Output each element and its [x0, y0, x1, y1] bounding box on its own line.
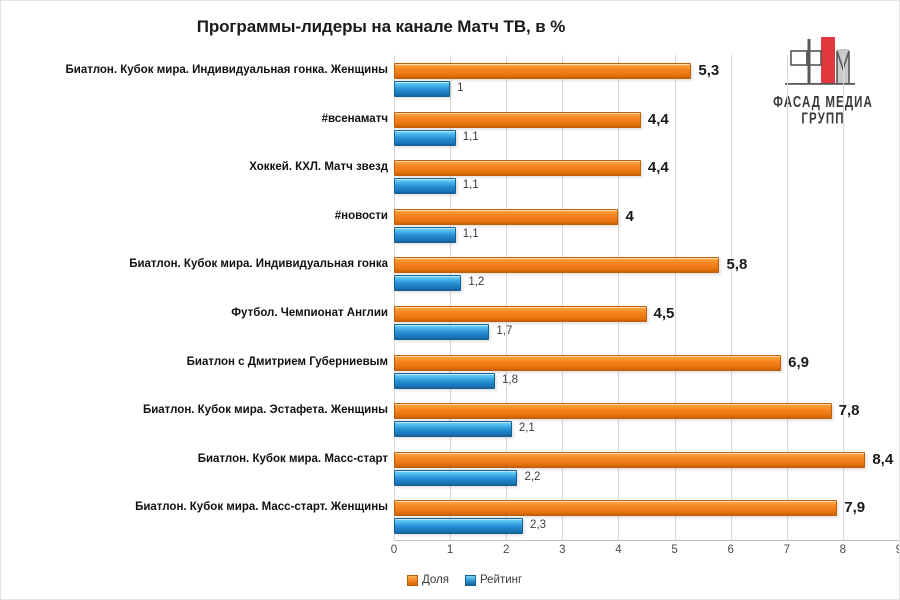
bar-dolya[interactable]: [394, 63, 691, 79]
x-axis-tick-label: 5: [671, 544, 677, 556]
bar-value-label-reyting: 1,1: [463, 228, 479, 240]
bar-dolya[interactable]: [394, 112, 641, 128]
chart-row: 5,31: [394, 55, 899, 104]
legend-swatch-icon: [407, 575, 418, 586]
chart-row: 41,1: [394, 201, 899, 250]
bar-dolya[interactable]: [394, 500, 837, 516]
chart-row: 8,42,2: [394, 444, 899, 493]
bar-dolya[interactable]: [394, 403, 832, 419]
chart-row: 4,41,1: [394, 104, 899, 153]
x-axis-tick-label: 6: [727, 544, 733, 556]
chart-row: 7,92,3: [394, 492, 899, 541]
category-label: Биатлон. Кубок мира. Эстафета. Женщины: [9, 404, 394, 416]
bar-dolya[interactable]: [394, 306, 647, 322]
legend-label: Доля: [422, 574, 449, 586]
bar-value-label-dolya: 5,8: [726, 256, 747, 273]
x-axis-tick-label: 7: [784, 544, 790, 556]
x-axis-tick-label: 9: [896, 544, 900, 556]
chart-row: 7,82,1: [394, 395, 899, 444]
category-label: Хоккей. КХЛ. Матч звезд: [9, 161, 394, 173]
x-axis-ticks: 0123456789: [394, 544, 899, 562]
page-title: Программы-лидеры на канале Матч ТВ, в %: [1, 17, 761, 37]
bar-dolya[interactable]: [394, 209, 618, 225]
bar-dolya[interactable]: [394, 160, 641, 176]
x-axis-tick-label: 1: [447, 544, 453, 556]
bar-value-label-dolya: 4: [625, 208, 633, 225]
bar-value-label-reyting: 2,1: [519, 422, 535, 434]
bar-value-label-reyting: 1,2: [468, 276, 484, 288]
bar-reyting[interactable]: [394, 178, 456, 194]
category-label: Биатлон. Кубок мира. Индивидуальная гонк…: [9, 64, 394, 76]
bar-value-label-reyting: 1,7: [496, 325, 512, 337]
bar-value-label-dolya: 6,9: [788, 354, 809, 371]
chart-row: 4,41,1: [394, 152, 899, 201]
bar-value-label-reyting: 2,3: [530, 519, 546, 531]
bar-value-label-reyting: 1: [457, 82, 463, 94]
bar-dolya[interactable]: [394, 452, 865, 468]
bar-value-label-reyting: 1,8: [502, 374, 518, 386]
plot-area: 5,314,41,14,41,141,15,81,24,51,76,91,87,…: [394, 55, 899, 541]
bar-value-label-dolya: 5,3: [698, 62, 719, 79]
bar-reyting[interactable]: [394, 275, 461, 291]
bar-reyting[interactable]: [394, 518, 523, 534]
category-label: Биатлон. Кубок мира. Индивидуальная гонк…: [9, 258, 394, 270]
bar-reyting[interactable]: [394, 421, 512, 437]
category-label: Биатлон. Кубок мира. Масс-старт. Женщины: [9, 501, 394, 513]
x-axis-tick-label: 8: [840, 544, 846, 556]
legend: ДоляРейтинг: [394, 569, 899, 591]
legend-item[interactable]: Рейтинг: [465, 569, 522, 591]
chart-row: 4,51,7: [394, 298, 899, 347]
bar-value-label-dolya: 4,4: [648, 159, 669, 176]
category-label: Биатлон с Дмитрием Губерниевым: [9, 356, 394, 368]
x-axis-tick-label: 2: [503, 544, 509, 556]
bar-dolya[interactable]: [394, 257, 719, 273]
category-label: #новости: [9, 210, 394, 222]
bar-value-label-reyting: 2,2: [524, 471, 540, 483]
bar-value-label-reyting: 1,1: [463, 179, 479, 191]
bar-value-label-dolya: 7,8: [839, 402, 860, 419]
bar-reyting[interactable]: [394, 470, 517, 486]
bar-reyting[interactable]: [394, 227, 456, 243]
bar-value-label-reyting: 1,1: [463, 131, 479, 143]
legend-swatch-icon: [465, 575, 476, 586]
bar-value-label-dolya: 7,9: [844, 499, 865, 516]
x-axis-tick-label: 4: [615, 544, 621, 556]
bar-reyting[interactable]: [394, 130, 456, 146]
bar-reyting[interactable]: [394, 324, 489, 340]
category-label: #всенаматч: [9, 113, 394, 125]
category-label: Биатлон. Кубок мира. Масс-старт: [9, 453, 394, 465]
legend-label: Рейтинг: [480, 574, 522, 586]
category-axis: Биатлон. Кубок мира. Индивидуальная гонк…: [1, 55, 394, 541]
bar-reyting[interactable]: [394, 373, 495, 389]
chart-row: 6,91,8: [394, 347, 899, 396]
bar-reyting[interactable]: [394, 81, 450, 97]
category-label: Футбол. Чемпионат Англии: [9, 307, 394, 319]
chart-row: 5,81,2: [394, 249, 899, 298]
bar-value-label-dolya: 4,4: [648, 111, 669, 128]
legend-item[interactable]: Доля: [407, 569, 449, 591]
x-axis-tick-label: 3: [559, 544, 565, 556]
x-axis-tick-label: 0: [391, 544, 397, 556]
bar-dolya[interactable]: [394, 355, 781, 371]
bar-value-label-dolya: 4,5: [654, 305, 675, 322]
chart-page: Программы-лидеры на канале Матч ТВ, в % …: [0, 0, 900, 600]
bar-value-label-dolya: 8,4: [872, 451, 893, 468]
